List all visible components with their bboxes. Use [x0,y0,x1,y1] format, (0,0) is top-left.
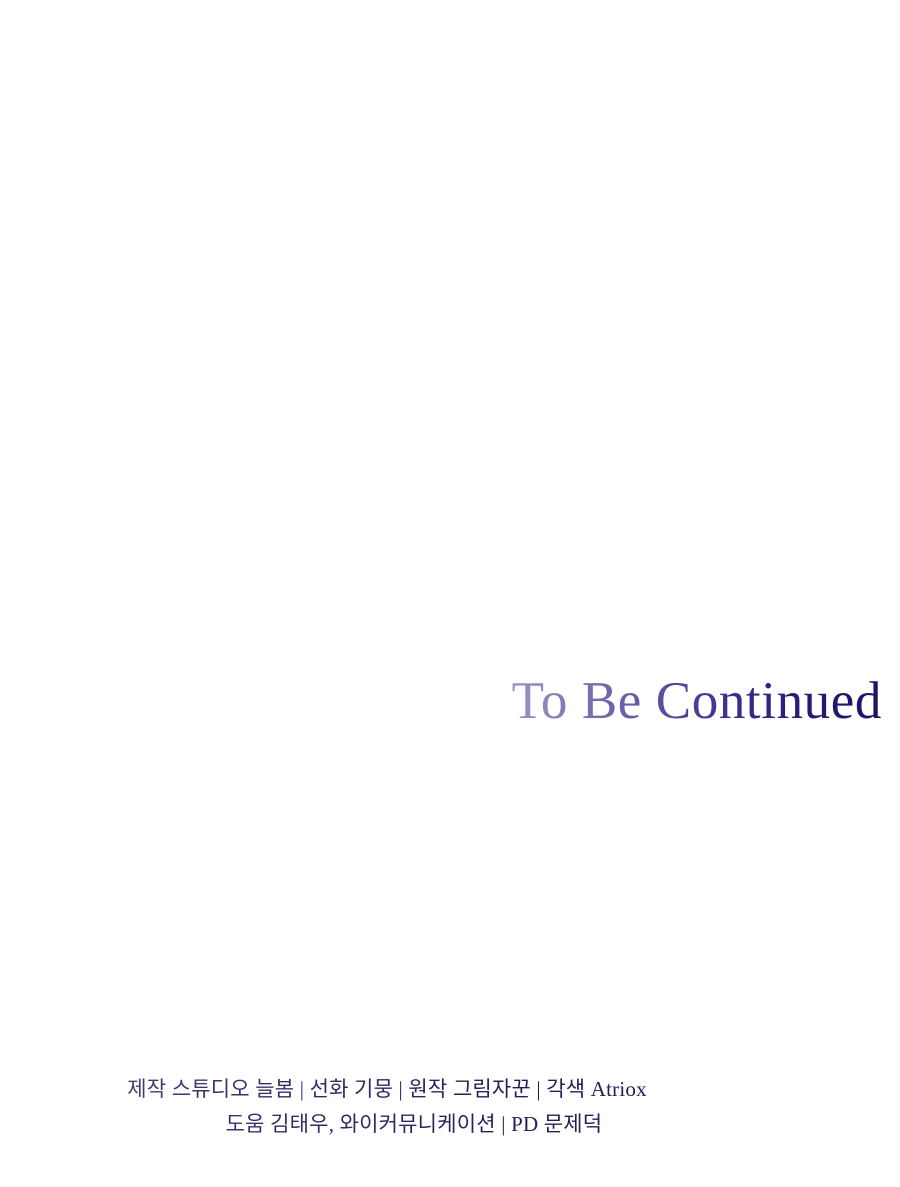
to-be-continued-block: To Be Continued [0,668,900,748]
credits-strip: 제작 스튜디오 늘봄 | 선화 기뭉 | 원작 그림자꾼 | 각색 Atriox… [0,1066,900,1187]
artwork-blank-area [0,0,900,660]
to-be-continued-text: To Be Continued [512,668,882,734]
credit-line-support: 도움 김태우, 와이커뮤니케이션 | PD 문제덕 [52,1107,722,1142]
credit-line-production: 제작 스튜디오 늘봄 | 선화 기뭉 | 원작 그림자꾼 | 각색 Atriox [52,1072,722,1107]
blank-gap-area [0,748,900,1070]
credits-text-block: 제작 스튜디오 늘봄 | 선화 기뭉 | 원작 그림자꾼 | 각색 Atriox… [52,1072,722,1142]
comic-end-card-page: To Be Continued 제작 스튜디오 늘봄 | 선화 기뭉 | 원작 … [0,0,900,1187]
